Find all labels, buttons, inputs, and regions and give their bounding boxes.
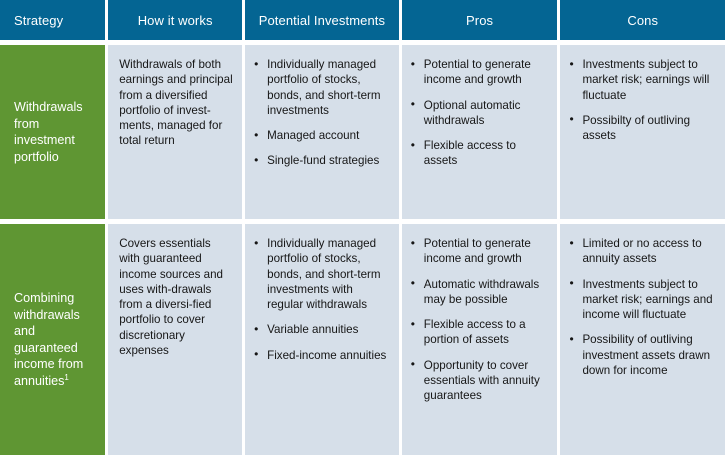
list-item: Automatic withdrawals may be possible <box>410 277 550 308</box>
column-header-cons: Cons <box>560 0 725 40</box>
list-item: Possibilty of outliving assets <box>568 113 717 144</box>
row-1-strategy-cell: Withdrawals from investment portfolio <box>0 45 105 219</box>
row-2-strategy-text: Combining withdrawals and guaranteed inc… <box>14 291 83 388</box>
list-item: Individually managed portfolio of stocks… <box>253 57 391 118</box>
column-header-pros-label: Pros <box>466 13 493 28</box>
list-item: Investments subject to market risk; earn… <box>568 57 717 103</box>
table-row: Withdrawals from investment portfolio Wi… <box>0 45 725 219</box>
column-header-cons-label: Cons <box>627 13 658 28</box>
column-header-strategy: Strategy <box>0 0 105 40</box>
comparison-table: Strategy How it works Potential Investme… <box>0 0 725 455</box>
row-1-how-it-works-text: Withdrawals of both earnings and princip… <box>119 57 233 149</box>
row-1-cons-cell: Investments subject to market risk; earn… <box>560 45 725 219</box>
row-2-how-it-works-text: Covers essentials with guaranteed income… <box>119 236 233 358</box>
row-1-potential-investments-cell: Individually managed portfolio of stocks… <box>245 45 399 219</box>
list-item: Flexible access to a portion of assets <box>410 317 550 348</box>
row-1-how-it-works-cell: Withdrawals of both earnings and princip… <box>108 45 242 219</box>
row-1-cons-list: Investments subject to market risk; earn… <box>568 57 717 143</box>
row-2-pros-list: Potential to generate income and growth … <box>410 236 550 404</box>
list-item: Limited or no access to annuity assets <box>568 236 717 267</box>
footnote-marker: 1 <box>64 372 68 381</box>
list-item: Fixed-income annuities <box>253 348 391 363</box>
list-item: Potential to generate income and growth <box>410 57 550 88</box>
column-header-potential-investments-label: Potential Investments <box>259 13 385 28</box>
row-2-cons-cell: Limited or no access to annuity assets I… <box>560 224 725 455</box>
list-item: Flexible access to assets <box>410 138 550 169</box>
column-header-potential-investments: Potential Investments <box>245 0 399 40</box>
row-2-how-it-works-cell: Covers essentials with guaranteed income… <box>108 224 242 455</box>
row-1-pros-cell: Potential to generate income and growth … <box>402 45 558 219</box>
row-1-strategy-label: Withdrawals from investment portfolio <box>14 99 95 165</box>
table-row: Combining withdrawals and guaranteed inc… <box>0 224 725 455</box>
row-1-potential-investments-list: Individually managed portfolio of stocks… <box>253 57 391 169</box>
list-item: Potential to generate income and growth <box>410 236 550 267</box>
column-header-pros: Pros <box>402 0 558 40</box>
list-item: Opportunity to cover essentials with ann… <box>410 358 550 404</box>
row-2-cons-list: Limited or no access to annuity assets I… <box>568 236 717 378</box>
row-2-pros-cell: Potential to generate income and growth … <box>402 224 558 455</box>
column-header-strategy-label: Strategy <box>14 13 63 28</box>
list-item: Investments subject to market risk; earn… <box>568 277 717 323</box>
row-1-pros-list: Potential to generate income and growth … <box>410 57 550 169</box>
list-item: Individually managed portfolio of stocks… <box>253 236 391 312</box>
list-item: Optional automatic withdrawals <box>410 98 550 129</box>
list-item: Managed account <box>253 128 391 143</box>
row-2-strategy-cell: Combining withdrawals and guaranteed inc… <box>0 224 105 455</box>
row-2-strategy-label: Combining withdrawals and guaranteed inc… <box>14 290 95 389</box>
row-2-potential-investments-list: Individually managed portfolio of stocks… <box>253 236 391 363</box>
list-item: Variable annuities <box>253 322 391 337</box>
list-item: Single-fund strategies <box>253 153 391 168</box>
list-item: Possibility of outliving investment asse… <box>568 332 717 378</box>
row-2-potential-investments-cell: Individually managed portfolio of stocks… <box>245 224 399 455</box>
table-header-row: Strategy How it works Potential Investme… <box>0 0 725 40</box>
column-header-how-it-works-label: How it works <box>138 13 213 28</box>
column-header-how-it-works: How it works <box>108 0 242 40</box>
